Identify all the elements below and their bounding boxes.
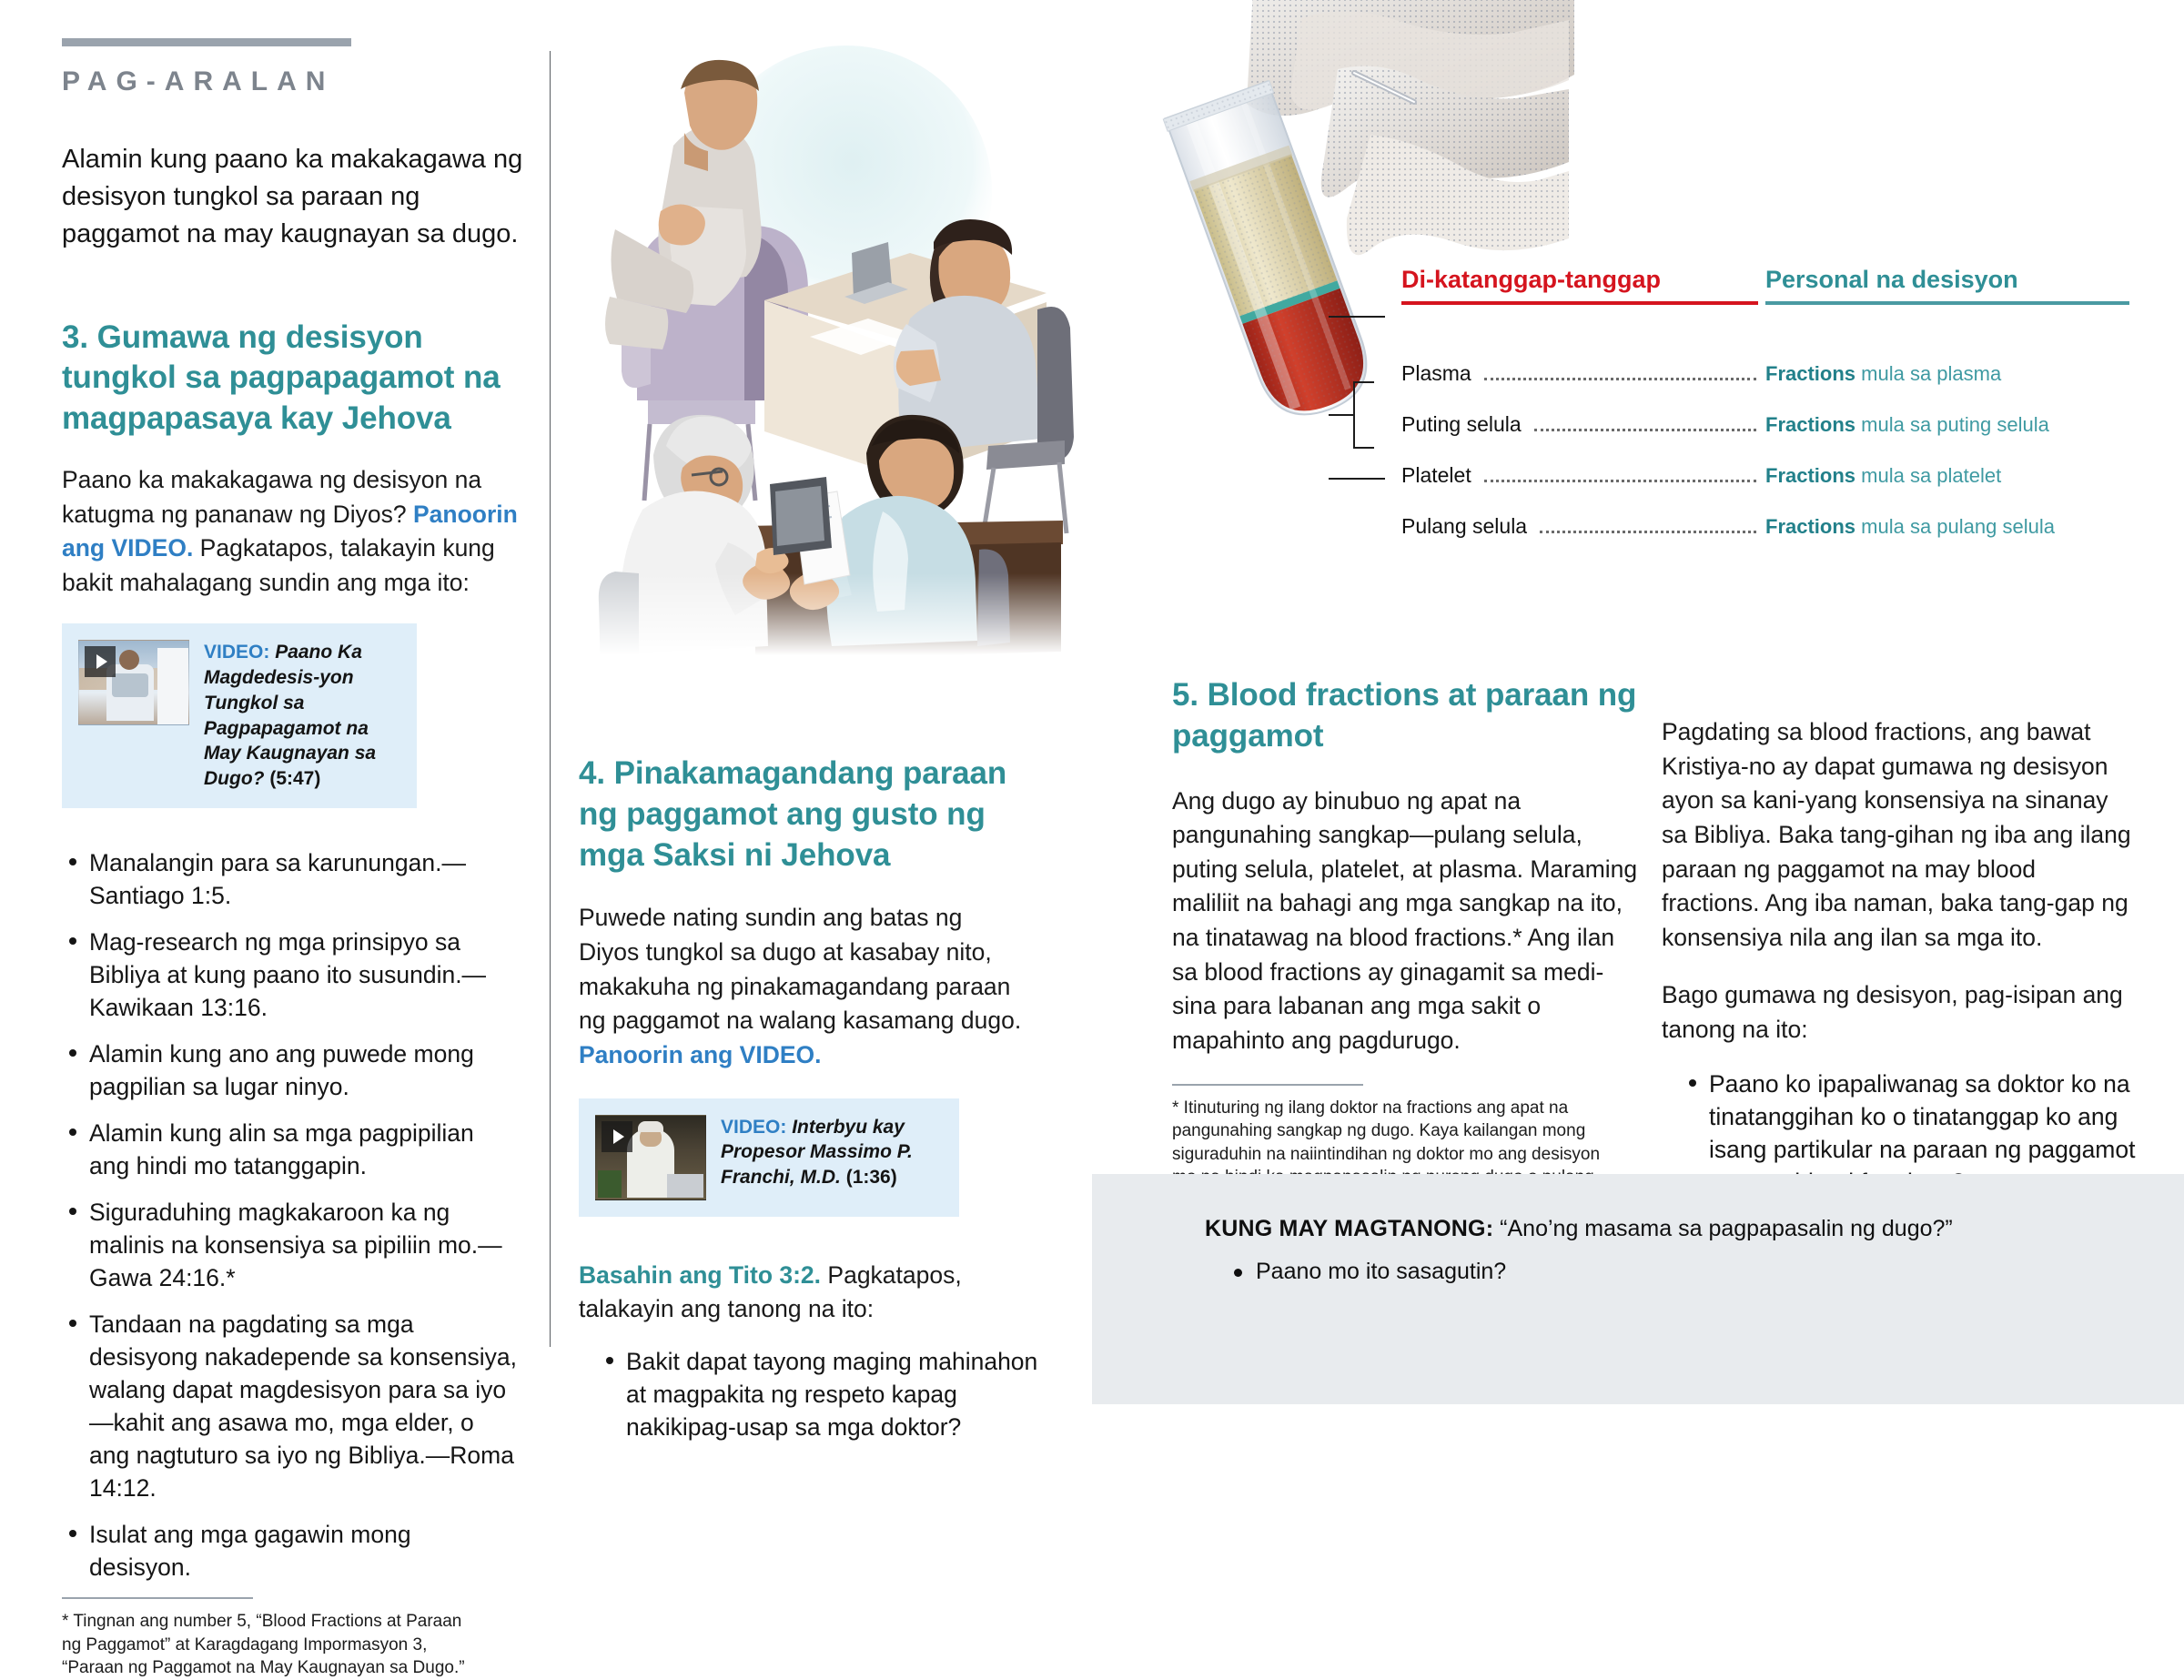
section-4-bullet-list: Bakit dapat tayong maging mahinahon at m… [599, 1345, 1054, 1443]
table-cell-fraction: Fractions mula sa plasma [1765, 362, 2148, 386]
table-row: Puting selula Fractions mula sa puting s… [1401, 412, 2148, 438]
section-5-footnote-rule [1172, 1084, 1363, 1086]
leader-dots [1484, 378, 1756, 380]
section-3-heading: 3. Gumawa ng desisyon tungkol sa pagpapa… [62, 318, 535, 440]
list-item: Tandaan na pagdating sa mga desisyong na… [89, 1308, 517, 1504]
section-4-video-label: VIDEO: [721, 1117, 786, 1138]
table-cell-component: Puting selula [1401, 412, 1765, 438]
section-5-paragraph-2: Pagdating sa blood fractions, ang bawat … [1662, 715, 2135, 955]
left-column: PAG-ARALAN Alamin kung paano ka makakaga… [62, 38, 535, 1680]
list-item: Alamin kung ano ang puwede mong pagpilia… [89, 1037, 517, 1103]
question-panel-title: KUNG MAY MAGTANONG: “Ano’ng masama sa pa… [1205, 1216, 2184, 1242]
table-cell-component: Plasma [1401, 361, 1765, 387]
section-3-bullet-list: Manalangin para sa karunungan.—Santiago … [62, 846, 517, 1584]
page-lede: Alamin kung paano ka makakagawa ng desis… [62, 141, 535, 254]
section-3-video-title: Paano Ka Magdedesis-yon Tungkol sa Pagpa… [204, 642, 376, 789]
section-4-video-link[interactable]: Panoorin ang VIDEO. [579, 1041, 822, 1068]
question-panel-inner: KUNG MAY MAGTANONG: “Ano’ng masama sa pa… [1092, 1174, 2184, 1285]
section-4-video-caption: VIDEO: Interbyu kay Propesor Massimo P. … [721, 1115, 943, 1190]
section-3-video-caption: VIDEO: Paano Ka Magdedesis-yon Tungkol s… [204, 640, 400, 791]
fraction-bold: Fractions [1765, 515, 1855, 538]
section-4-video-duration: (1:36) [846, 1167, 897, 1188]
list-item: Paano mo ito sasagutin? [1256, 1259, 2184, 1285]
leader-dots [1484, 480, 1756, 482]
play-icon[interactable] [85, 646, 116, 677]
section-3-video-card[interactable]: VIDEO: Paano Ka Magdedesis-yon Tungkol s… [62, 623, 417, 807]
table-cell-fraction: Fractions mula sa puting selula [1765, 413, 2148, 437]
table-row: Pulang selula Fractions mula sa pulang s… [1401, 514, 2148, 540]
question-panel-question: “Ano’ng masama sa pagpapasalin ng dugo?” [1493, 1216, 1953, 1241]
table-header-row: Di-katanggap-tanggap Personal na desisyo… [1401, 266, 2148, 305]
illustration-svg [582, 18, 1074, 655]
table-header-personal: Personal na desisyon [1765, 266, 2148, 305]
play-icon[interactable] [602, 1121, 632, 1152]
section-4-heading: 4. Pinakamagandang paraan ng paggamot an… [579, 754, 1025, 875]
question-panel-label: KUNG MAY MAGTANONG: [1205, 1216, 1493, 1241]
question-panel-bullets: Paano mo ito sasagutin? [1205, 1259, 2184, 1285]
section-4-intro: Puwede nating sundin ang batas ng Diyos … [579, 901, 1025, 1072]
column-header-label: Personal na desisyon [1765, 266, 2148, 294]
list-item: Bakit dapat tayong maging mahinahon at m… [626, 1345, 1054, 1443]
fraction-rest: mula sa platelet [1855, 464, 2001, 487]
component-name: Puting selula [1401, 412, 1522, 437]
section-3-video-duration: (5:47) [269, 768, 320, 789]
question-panel: KUNG MAY MAGTANONG: “Ano’ng masama sa pa… [1092, 1174, 2184, 1404]
component-name: Platelet [1401, 463, 1471, 488]
section-3-video-label: VIDEO: [204, 642, 269, 663]
blood-fractions-table: Di-katanggap-tanggap Personal na desisyo… [1401, 266, 2148, 540]
section-3-footnote: * Tingnan ang number 5, “Blood Fractions… [62, 1610, 480, 1679]
list-item: Alamin kung alin sa mga pagpipilian ang … [89, 1117, 517, 1182]
leader-dots [1540, 531, 1756, 533]
section-4-scripture-link[interactable]: Basahin ang Tito 3:2. [579, 1261, 821, 1289]
section-4-video-card[interactable]: VIDEO: Interbyu kay Propesor Massimo P. … [579, 1098, 959, 1217]
page-kicker: PAG-ARALAN [62, 66, 535, 97]
header-rule-red [1401, 301, 1758, 305]
second-column: 4. Pinakamagandang paraan ng paggamot an… [579, 754, 1025, 1457]
table-cell-component: Platelet [1401, 463, 1765, 489]
section-5-paragraph-3: Bago gumawa ng desisyon, pag-isipan ang … [1662, 978, 2135, 1047]
section-5-heading: 5. Blood fractions at paraan ng paggamot [1172, 675, 1645, 757]
section-4-read-line: Basahin ang Tito 3:2. Pagkatapos, talaka… [579, 1259, 1025, 1327]
fraction-rest: mula sa puting selula [1855, 413, 2049, 436]
component-name: Pulang selula [1401, 514, 1527, 539]
table-cell-component: Pulang selula [1401, 514, 1765, 540]
fraction-bold: Fractions [1765, 362, 1855, 385]
section-4-video-thumbnail[interactable] [595, 1115, 706, 1200]
list-item: Siguraduhing magkakaroon ka ng malinis n… [89, 1196, 517, 1294]
section-3-intro: Paano ka makakagawa ng desisyon na katug… [62, 463, 535, 601]
list-item: Isulat ang mga gagawin mong desisyon. [89, 1518, 517, 1584]
section-4-intro-text: Puwede nating sundin ang batas ng Diyos … [579, 904, 1021, 1034]
leader-lines-svg [1256, 273, 1420, 564]
table-row: Plasma Fractions mula sa plasma [1401, 361, 2148, 387]
component-name: Plasma [1401, 361, 1471, 386]
section-5-left-column: 5. Blood fractions at paraan ng paggamot… [1172, 675, 1645, 1212]
section-3-video-thumbnail[interactable] [78, 640, 189, 725]
header-rule-teal [1765, 301, 2129, 305]
leader-lines [1256, 273, 1420, 564]
table-cell-fraction: Fractions mula sa pulang selula [1765, 515, 2148, 539]
column-header-label: Di-katanggap-tanggap [1401, 266, 1765, 294]
column-divider [550, 51, 551, 1347]
list-item: Mag-research ng mga prinsipyo sa Bibliya… [89, 926, 517, 1024]
fraction-rest: mula sa plasma [1855, 362, 2001, 385]
table-cell-fraction: Fractions mula sa platelet [1765, 464, 2148, 488]
office-and-doctor-illustration [582, 18, 1074, 655]
kicker-rule [62, 38, 351, 46]
list-item: Manalangin para sa karunungan.—Santiago … [89, 846, 517, 912]
fraction-bold: Fractions [1765, 413, 1855, 436]
fraction-bold: Fractions [1765, 464, 1855, 487]
fraction-rest: mula sa pulang selula [1855, 515, 2055, 538]
section-5-right-column: Pagdating sa blood fractions, ang bawat … [1662, 715, 2135, 1212]
table-header-unacceptable: Di-katanggap-tanggap [1401, 266, 1765, 305]
section-5-paragraph-1: Ang dugo ay binubuo ng apat na pangunahi… [1172, 784, 1645, 1058]
footnote-rule [62, 1597, 253, 1599]
table-row: Platelet Fractions mula sa platelet [1401, 463, 2148, 489]
leader-dots [1534, 429, 1756, 431]
